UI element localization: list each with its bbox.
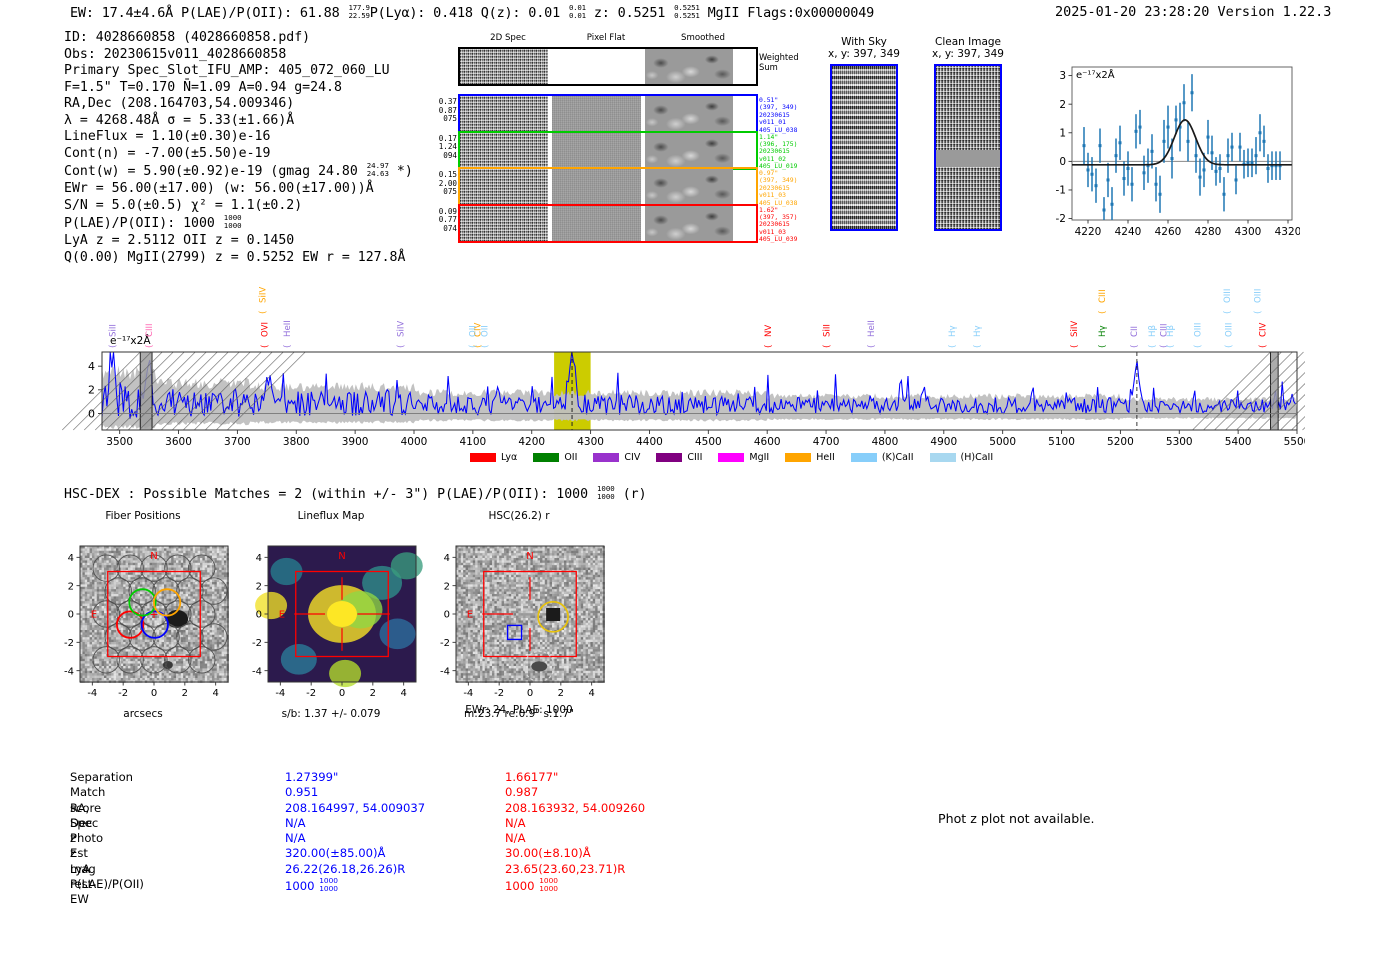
clean-image-coords: x, y: 397, 349 [922, 48, 1014, 60]
svg-text:4800: 4800 [872, 436, 899, 448]
svg-text:4240: 4240 [1115, 226, 1142, 238]
clean-image-panel: Clean Image x, y: 397, 349 [922, 36, 1014, 231]
match-value: 0.951 [285, 785, 318, 800]
strip-right-meta: 0.51"(397, 349)20230615v011_01405_LU_038 [759, 97, 797, 134]
svg-text:OIII: OIII [1254, 289, 1264, 303]
info-plae-poii: P(LAE)/P(OII): 1000 10001000 [64, 214, 413, 233]
svg-text:4400: 4400 [636, 436, 663, 448]
plae-bounds: 177.922.59 [348, 4, 369, 19]
strip-smoothed [645, 169, 733, 204]
svg-text:-2: -2 [306, 688, 316, 699]
svg-text:(: ( [145, 344, 155, 348]
info-cont-w: Cont(w) = 5.90(±0.92)e-19 (gmag 24.80 24… [64, 162, 413, 181]
svg-text:3600: 3600 [165, 436, 192, 448]
legend-item: (H)CaII [930, 452, 994, 463]
svg-text:(: ( [396, 344, 406, 348]
match-value: 30.00(±8.10)Å [505, 846, 591, 861]
full-spectrum-plot: 3500360037003800390040004100420043004400… [60, 270, 1305, 450]
legend-label: CIV [624, 452, 640, 463]
cutout-panel-2: Lineflux MapNE-4-4-2-2002244s/b: 1.37 +/… [238, 510, 424, 720]
svg-text:4300: 4300 [1235, 226, 1262, 238]
legend-item: HeII [785, 452, 835, 463]
svg-text:-4: -4 [275, 688, 285, 699]
svg-text:E: E [91, 609, 97, 620]
svg-text:(: ( [109, 344, 119, 348]
svg-text:4200: 4200 [518, 436, 545, 448]
svg-text:2: 2 [182, 688, 188, 699]
weighted-sum-2dspec [460, 49, 548, 84]
fiber-strip-3: 0.152.000750.97"(397, 349)20230615v011_0… [458, 167, 758, 206]
svg-text:Hγ: Hγ [973, 325, 983, 337]
svg-text:HeII: HeII [283, 320, 293, 337]
spectrum-legend: LyαOIICIVCIIIMgIIHeII(K)CaII(H)CaII [470, 452, 993, 463]
svg-text:4300: 4300 [577, 436, 604, 448]
svg-text:SiII: SiII [109, 324, 119, 337]
cutout-panel-3: HSC(26.2) rNE-4-4-2-2002244m:23.7 re:0.9… [426, 510, 612, 716]
svg-text:0: 0 [88, 407, 95, 420]
weighted-sum-pixelflat [552, 49, 641, 84]
legend-label: MgII [749, 452, 769, 463]
svg-text:4220: 4220 [1075, 226, 1102, 238]
match-value: 1000 10001000 [285, 877, 338, 895]
svg-text:CIII: CIII [1098, 289, 1108, 303]
svg-text:HeII: HeII [867, 320, 877, 337]
strip-pixelflat [552, 96, 641, 131]
cutout-title: Fiber Positions [50, 510, 236, 522]
legend-swatch [533, 453, 559, 462]
svg-text:Hγ: Hγ [948, 325, 958, 337]
timestamp-version: 2025-01-20 23:28:20 Version 1.22.3 [1055, 4, 1331, 20]
svg-text:4000: 4000 [401, 436, 428, 448]
column-header-smoothed: Smoothed [658, 33, 748, 43]
with-sky-image [830, 64, 898, 231]
weighted-sum-strip: WeightedSum [458, 47, 758, 86]
legend-item: CIII [656, 452, 702, 463]
svg-text:-4: -4 [252, 666, 262, 677]
cutout-caption: s/b: 1.37 +/- 0.079 [238, 708, 424, 720]
summary-plya-qz: P(Lyα): 0.418 Q(z): 0.01 [370, 5, 568, 21]
column-header-2dspec: 2D Spec [463, 33, 553, 43]
legend-label: OII [564, 452, 577, 463]
match-value: 1000 10001000 [505, 877, 558, 895]
svg-text:2: 2 [68, 581, 74, 592]
svg-text:(: ( [260, 344, 270, 348]
summary-ew-plae: EW: 17.4±4.6Å P(LAE)/P(OII): 61.88 [70, 5, 347, 21]
match-value: N/A [285, 831, 306, 846]
svg-text:3800: 3800 [283, 436, 310, 448]
info-id: ID: 4028660858 (4028660858.pdf) [64, 30, 413, 47]
svg-text:Hβ: Hβ [1166, 325, 1176, 337]
weighted-sum-label: WeightedSum [759, 52, 799, 72]
strip-left-values: 0.090.77074 [439, 208, 457, 234]
with-sky-title: With Sky [822, 36, 906, 48]
info-redshifts: LyA z = 2.5112 OII z = 0.1450 [64, 233, 413, 250]
svg-text:4: 4 [256, 553, 262, 564]
svg-text:-2: -2 [118, 688, 128, 699]
svg-text:(: ( [764, 344, 774, 348]
summary-z: z: 0.5251 [586, 5, 673, 21]
match-value: N/A [505, 816, 526, 831]
svg-text:5000: 5000 [989, 436, 1016, 448]
legend-item: MgII [718, 452, 769, 463]
match-value: 23.65(23.60,23.71)R [505, 862, 625, 877]
svg-text:(: ( [867, 344, 877, 348]
svg-text:3700: 3700 [224, 436, 251, 448]
svg-text:e⁻¹⁷x2Å: e⁻¹⁷x2Å [1076, 68, 1115, 81]
legend-item: OII [533, 452, 577, 463]
svg-text:1: 1 [1059, 127, 1066, 139]
svg-text:Hγ: Hγ [1098, 325, 1108, 337]
clean-image [934, 64, 1002, 231]
svg-text:OIII: OIII [1225, 323, 1235, 337]
strip-2dspec [460, 96, 548, 131]
strip-pixelflat [552, 206, 641, 241]
svg-text:0: 0 [68, 610, 74, 621]
svg-text:(: ( [973, 344, 983, 348]
svg-text:(: ( [1166, 344, 1176, 348]
match-value: 208.163932, 54.009260 [505, 801, 645, 816]
with-sky-panel: With Sky x, y: 397, 349 [822, 36, 906, 231]
match-value: 208.164997, 54.009037 [285, 801, 425, 816]
cutout-panels: Fiber Positions+NE-4-4-2-2002244arcsecsL… [50, 510, 1400, 770]
svg-text:(: ( [1254, 310, 1264, 314]
cutout-title: Lineflux Map [238, 510, 424, 522]
svg-text:E: E [279, 609, 285, 620]
line-fit-plot: 422042404260428043004320-2-10123e⁻¹⁷x2Å [1030, 45, 1300, 260]
svg-text:+: + [149, 608, 158, 621]
svg-text:3900: 3900 [342, 436, 369, 448]
info-obs: Obs: 20230615v011_4028660858 [64, 47, 413, 64]
info-plae-bounds: 10001000 [224, 214, 242, 229]
svg-text:(: ( [1148, 344, 1158, 348]
svg-text:5400: 5400 [1225, 436, 1252, 448]
legend-swatch [593, 453, 619, 462]
svg-text:2: 2 [1059, 99, 1066, 111]
svg-text:(: ( [1225, 344, 1235, 348]
match-plae-bounds: 10001000 [539, 877, 558, 892]
svg-text:4320: 4320 [1275, 226, 1300, 238]
svg-text:(: ( [1070, 344, 1080, 348]
with-sky-coords: x, y: 397, 349 [822, 48, 906, 60]
svg-text:SiIV: SiIV [396, 321, 406, 337]
svg-text:4100: 4100 [459, 436, 486, 448]
svg-text:5100: 5100 [1048, 436, 1075, 448]
svg-text:OII: OII [468, 325, 478, 337]
svg-text:0: 0 [151, 688, 157, 699]
z-bounds: 0.52510.5251 [674, 4, 700, 19]
svg-text:2: 2 [256, 581, 262, 592]
svg-text:SiII: SiII [823, 324, 833, 337]
legend-item: (K)CaII [851, 452, 914, 463]
svg-text:2: 2 [370, 688, 376, 699]
column-header-pixelflat: Pixel Flat [561, 33, 651, 43]
svg-text:0: 0 [1059, 156, 1066, 168]
svg-text:OVI: OVI [260, 322, 270, 337]
svg-text:(: ( [948, 344, 958, 348]
legend-label: (K)CaII [882, 452, 914, 463]
svg-text:3: 3 [1059, 70, 1066, 82]
svg-text:4: 4 [212, 688, 218, 699]
match-value: 0.987 [505, 785, 538, 800]
match-value: N/A [505, 831, 526, 846]
svg-text:(: ( [1098, 344, 1108, 348]
info-lambda-sigma: λ = 4268.48Å σ = 5.33(±1.66)Å [64, 113, 413, 130]
svg-text:4: 4 [68, 553, 74, 564]
svg-text:-4: -4 [64, 666, 74, 677]
hscdex-plae-bounds: 10001000 [597, 485, 615, 500]
svg-text:4260: 4260 [1155, 226, 1182, 238]
svg-text:SiIV: SiIV [259, 287, 269, 303]
fiber-strip-1: 0.370.870750.51"(397, 349)20230615v011_0… [458, 94, 758, 133]
weighted-sum-smoothed [645, 49, 733, 84]
match-value: 1.66177" [505, 770, 558, 785]
svg-text:-2: -2 [1056, 213, 1066, 225]
strip-smoothed [645, 206, 733, 241]
match-value: 26.22(26.18,26.26)R [285, 862, 405, 877]
svg-text:-4: -4 [87, 688, 97, 699]
info-ewr: EWr = 56.00(±17.00) (w: 56.00(±17.00))Å [64, 181, 413, 198]
svg-text:-2: -2 [64, 638, 74, 649]
gmag-bounds: 24.9724.63 [367, 162, 389, 177]
svg-text:5500: 5500 [1284, 436, 1305, 448]
cutout-caption: EWr: 24, PLAE: 1000 [426, 704, 612, 716]
svg-text:2: 2 [88, 384, 95, 397]
svg-text:NV: NV [764, 325, 774, 337]
legend-swatch [470, 453, 496, 462]
photz-note: Phot z plot not available. [938, 811, 1094, 826]
strip-pixelflat [552, 133, 641, 168]
legend-label: CIII [687, 452, 702, 463]
info-seeing: F=1.5" T=0.170 N̄=1.09 A=0.94 g=24.8 [64, 80, 413, 97]
match-plae-bounds: 10001000 [319, 877, 338, 892]
svg-text:4: 4 [400, 688, 406, 699]
info-spec-slot: Primary Spec_Slot_IFU_AMP: 405_072_060_L… [64, 63, 413, 80]
svg-text:(: ( [283, 344, 293, 348]
legend-label: Lyα [501, 452, 517, 463]
svg-text:4700: 4700 [813, 436, 840, 448]
strip-left-values: 0.370.87075 [439, 98, 457, 124]
svg-text:N: N [150, 551, 157, 562]
hscdex-headline: HSC-DEX : Possible Matches = 2 (within +… [64, 485, 647, 502]
legend-label: (H)CaII [961, 452, 994, 463]
fiber-strip-4: 0.090.770741.62"(397, 357)20230615v011_0… [458, 204, 758, 243]
svg-text:0: 0 [339, 688, 345, 699]
svg-text:CIV: CIV [1258, 322, 1268, 337]
svg-text:N: N [338, 551, 345, 562]
match-label: Separation [70, 770, 133, 785]
info-snr-chi2: S/N = 5.0(±0.5) χ² = 1.1(±0.2) [64, 198, 413, 215]
clean-image-title: Clean Image [922, 36, 1014, 48]
fiber-strip-list: 0.370.870750.51"(397, 349)20230615v011_0… [458, 94, 758, 243]
strip-right-meta: 0.97"(397, 349)20230615v011_03405_LU_038 [759, 170, 797, 207]
cutout-caption: arcsecs [50, 708, 236, 720]
match-label: mag [70, 862, 96, 877]
svg-text:CII: CII [1130, 326, 1140, 337]
qz-bounds: 0.010.01 [569, 4, 586, 19]
svg-text:4500: 4500 [695, 436, 722, 448]
legend-swatch [930, 453, 956, 462]
svg-text:OIII: OIII [1194, 323, 1204, 337]
svg-text:(: ( [1223, 310, 1233, 314]
match-value: 1.27399" [285, 770, 338, 785]
svg-text:4: 4 [88, 360, 95, 373]
legend-item: CIV [593, 452, 640, 463]
strip-right-meta: 1.14"(396, 175)20230615v011_02405_LU_019 [759, 134, 797, 171]
strip-pixelflat [552, 169, 641, 204]
svg-text:(: ( [468, 344, 478, 348]
svg-text:-2: -2 [252, 638, 262, 649]
legend-swatch [785, 453, 811, 462]
strip-left-values: 0.152.00075 [439, 171, 457, 197]
svg-text:4900: 4900 [930, 436, 957, 448]
fiber-strip-2: 0.171.240941.14"(396, 175)20230615v011_0… [458, 131, 758, 170]
svg-text:(: ( [1098, 310, 1108, 314]
info-lineflux: LineFlux = 1.10(±0.30)e-16 [64, 129, 413, 146]
strip-right-meta: 1.62"(397, 357)20230615v011_03405_LU_039 [759, 207, 797, 244]
legend-swatch [718, 453, 744, 462]
svg-text:(: ( [259, 310, 269, 314]
svg-text:3500: 3500 [106, 436, 133, 448]
detection-info-block: ID: 4028660858 (4028660858.pdf) Obs: 202… [64, 30, 413, 266]
twod-spec-panel: 2D Spec Pixel Flat Smoothed WeightedSum … [458, 33, 758, 240]
svg-text:4280: 4280 [1195, 226, 1222, 238]
svg-text:CIII: CIII [145, 323, 155, 337]
svg-text:(: ( [823, 344, 833, 348]
legend-label: HeII [816, 452, 835, 463]
svg-text:5300: 5300 [1166, 436, 1193, 448]
match-label: P(LAE)/P(OII) [70, 877, 144, 892]
legend-swatch [851, 453, 877, 462]
svg-text:Hβ: Hβ [1148, 325, 1158, 337]
strip-smoothed [645, 96, 733, 131]
info-radec: RA,Dec (208.164703,54.009346) [64, 96, 413, 113]
svg-text:0: 0 [256, 610, 262, 621]
svg-text:(: ( [1258, 344, 1268, 348]
svg-text:SiIV: SiIV [1070, 321, 1080, 337]
svg-text:OIII: OIII [1223, 289, 1233, 303]
legend-item: Lyα [470, 452, 517, 463]
strip-2dspec [460, 206, 548, 241]
info-mgii: Q(0.00) MgII(2799) z = 0.5252 EW r = 127… [64, 250, 413, 267]
legend-swatch [656, 453, 682, 462]
cutout-panel-1: Fiber Positions+NE-4-4-2-2002244arcsecs [50, 510, 236, 720]
svg-text:(: ( [1194, 344, 1204, 348]
svg-text:5200: 5200 [1107, 436, 1134, 448]
strip-2dspec [460, 133, 548, 168]
match-value: 320.00(±85.00)Å [285, 846, 385, 861]
svg-text:(: ( [1130, 344, 1140, 348]
strip-left-values: 0.171.24094 [439, 135, 457, 161]
svg-text:-1: -1 [1056, 185, 1066, 197]
strip-smoothed [645, 133, 733, 168]
summary-flags: MgII Flags:0x00000049 [700, 5, 874, 21]
strip-2dspec [460, 169, 548, 204]
info-cont-n: Cont(n) = -7.00(±5.50)e-19 [64, 146, 413, 163]
svg-text:4600: 4600 [754, 436, 781, 448]
cutout-title: HSC(26.2) r [426, 510, 612, 522]
match-value: N/A [285, 816, 306, 831]
summary-header: EW: 17.4±4.6Å P(LAE)/P(OII): 61.88 177.9… [70, 4, 874, 21]
